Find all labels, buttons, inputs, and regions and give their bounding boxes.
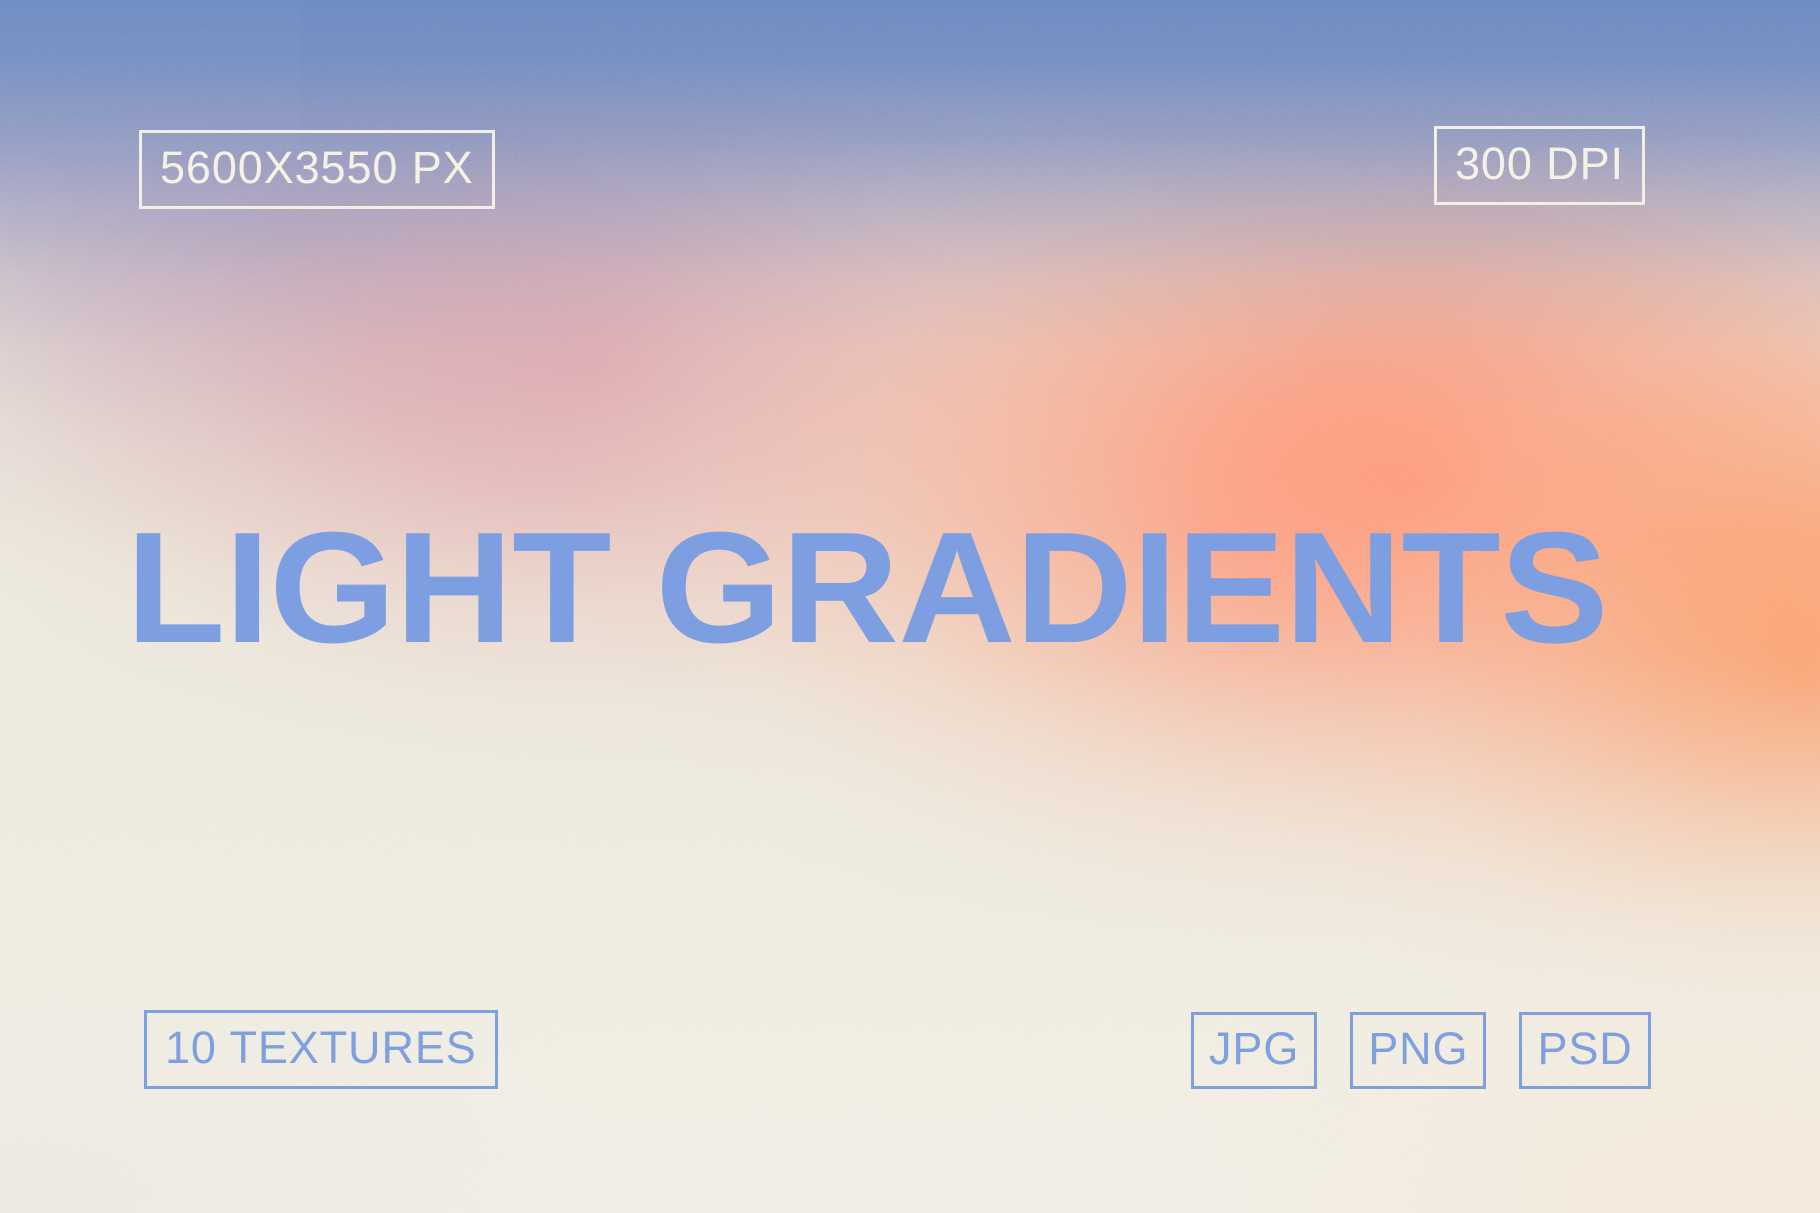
page-title: LIGHT GRADIENTS [126, 509, 1608, 667]
format-badge-psd: PSD [1519, 1012, 1650, 1089]
dpi-badge: 300 DPI [1434, 126, 1645, 205]
format-badge-jpg: JPG [1191, 1012, 1317, 1089]
film-grain-fine-texture [0, 0, 300, 150]
dimensions-badge: 5600X3550 PX [139, 130, 495, 209]
format-badge-png: PNG [1350, 1012, 1486, 1089]
gradient-poster: 5600X3550 PX 300 DPI LIGHT GRADIENTS 10 … [0, 0, 1820, 1213]
textures-count-badge: 10 TEXTURES [144, 1010, 498, 1089]
file-format-badge-group: JPG PNG PSD [1191, 1012, 1651, 1089]
